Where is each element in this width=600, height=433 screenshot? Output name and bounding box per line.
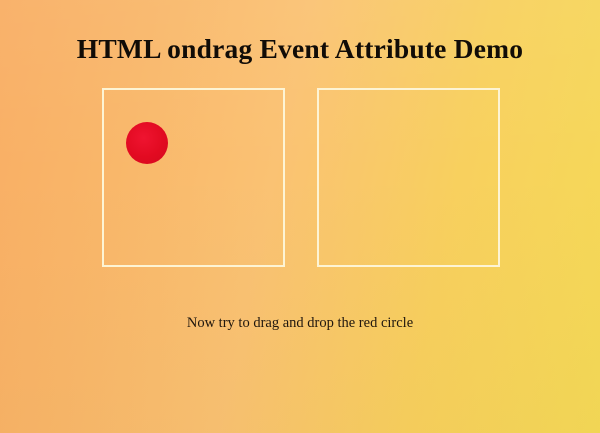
red-circle-draggable[interactable] [126,122,168,164]
instruction-text: Now try to drag and drop the red circle [0,314,600,332]
source-drop-zone[interactable] [102,88,285,267]
page-title: HTML ondrag Event Attribute Demo [0,32,600,66]
target-drop-zone[interactable] [317,88,500,267]
page-root: HTML ondrag Event Attribute Demo Now try… [0,0,600,433]
